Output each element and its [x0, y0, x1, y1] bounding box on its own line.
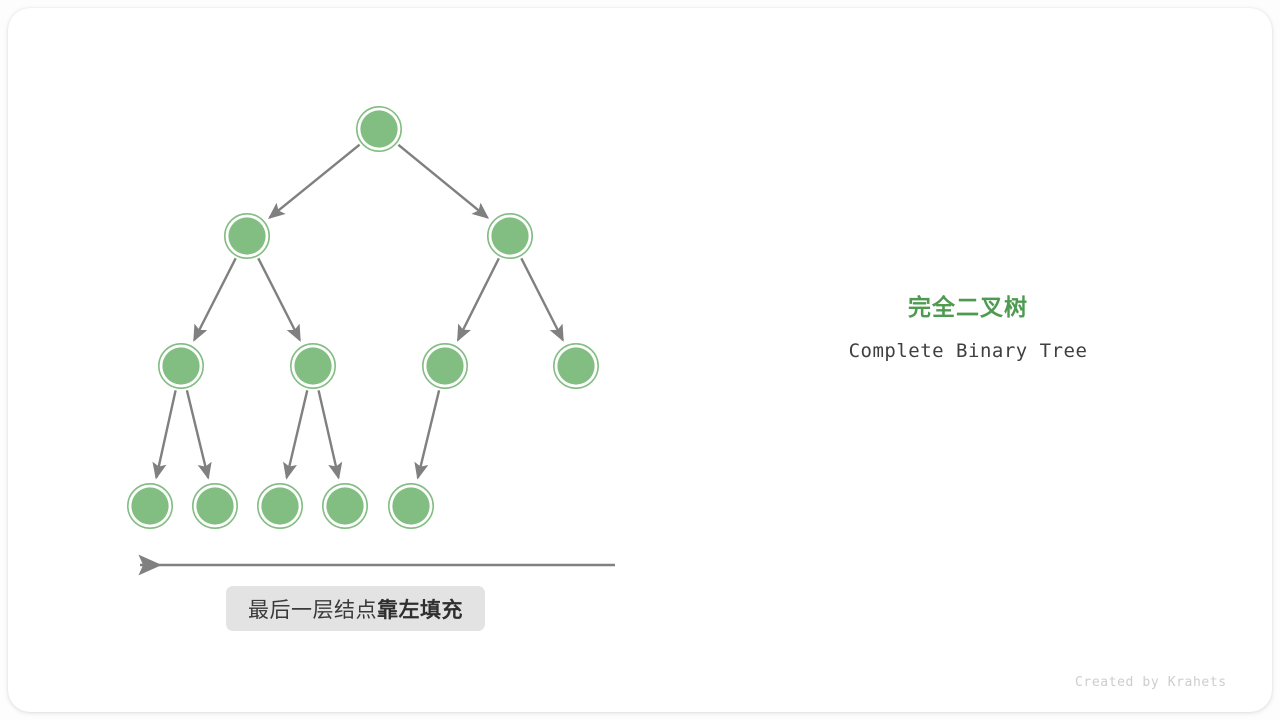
- tree-node[interactable]: [159, 344, 203, 388]
- tree-node[interactable]: [258, 484, 302, 528]
- tree-node[interactable]: [488, 214, 532, 258]
- tree-nodes: [128, 107, 598, 528]
- tree-node[interactable]: [291, 344, 335, 388]
- tree-node[interactable]: [323, 484, 367, 528]
- tree-node[interactable]: [128, 484, 172, 528]
- tree-edge: [156, 390, 175, 477]
- tree-edge: [319, 390, 339, 477]
- tree-node[interactable]: [193, 484, 237, 528]
- last-level-fill-label: 最后一层结点靠左填充: [226, 586, 485, 631]
- node-disc: [326, 487, 363, 524]
- tree-edge: [418, 390, 439, 478]
- tree-node[interactable]: [554, 344, 598, 388]
- tree-node[interactable]: [423, 344, 467, 388]
- title-chinese: 完全二叉树: [768, 292, 1168, 322]
- tree-edge: [270, 145, 360, 218]
- tree-edge: [187, 390, 208, 478]
- tree-edge: [398, 145, 487, 218]
- tree-edge: [194, 258, 236, 340]
- node-disc: [131, 487, 168, 524]
- node-disc: [294, 347, 331, 384]
- tree-edges: [156, 145, 563, 478]
- node-disc: [491, 217, 528, 254]
- tree-edge: [258, 258, 300, 340]
- subtitle-english: Complete Binary Tree: [768, 340, 1168, 362]
- node-disc: [360, 110, 397, 147]
- tree-edge: [458, 258, 499, 340]
- node-disc: [162, 347, 199, 384]
- tree-edge: [521, 258, 563, 340]
- node-disc: [557, 347, 594, 384]
- node-disc: [228, 217, 265, 254]
- caption-block: 完全二叉树 Complete Binary Tree: [768, 292, 1168, 362]
- chip-text-strong: 靠左填充: [377, 594, 463, 624]
- tree-edge: [287, 390, 308, 477]
- screenshot-root: 完全二叉树 Complete Binary Tree 最后一层结点靠左填充 Cr…: [0, 0, 1280, 720]
- credit-text: Created by Krahets: [1075, 675, 1227, 690]
- chip-text-normal: 最后一层结点: [248, 594, 377, 624]
- node-disc: [261, 487, 298, 524]
- tree-node[interactable]: [225, 214, 269, 258]
- tree-node[interactable]: [357, 107, 401, 151]
- node-disc: [196, 487, 233, 524]
- node-disc: [392, 487, 429, 524]
- tree-node[interactable]: [389, 484, 433, 528]
- node-disc: [426, 347, 463, 384]
